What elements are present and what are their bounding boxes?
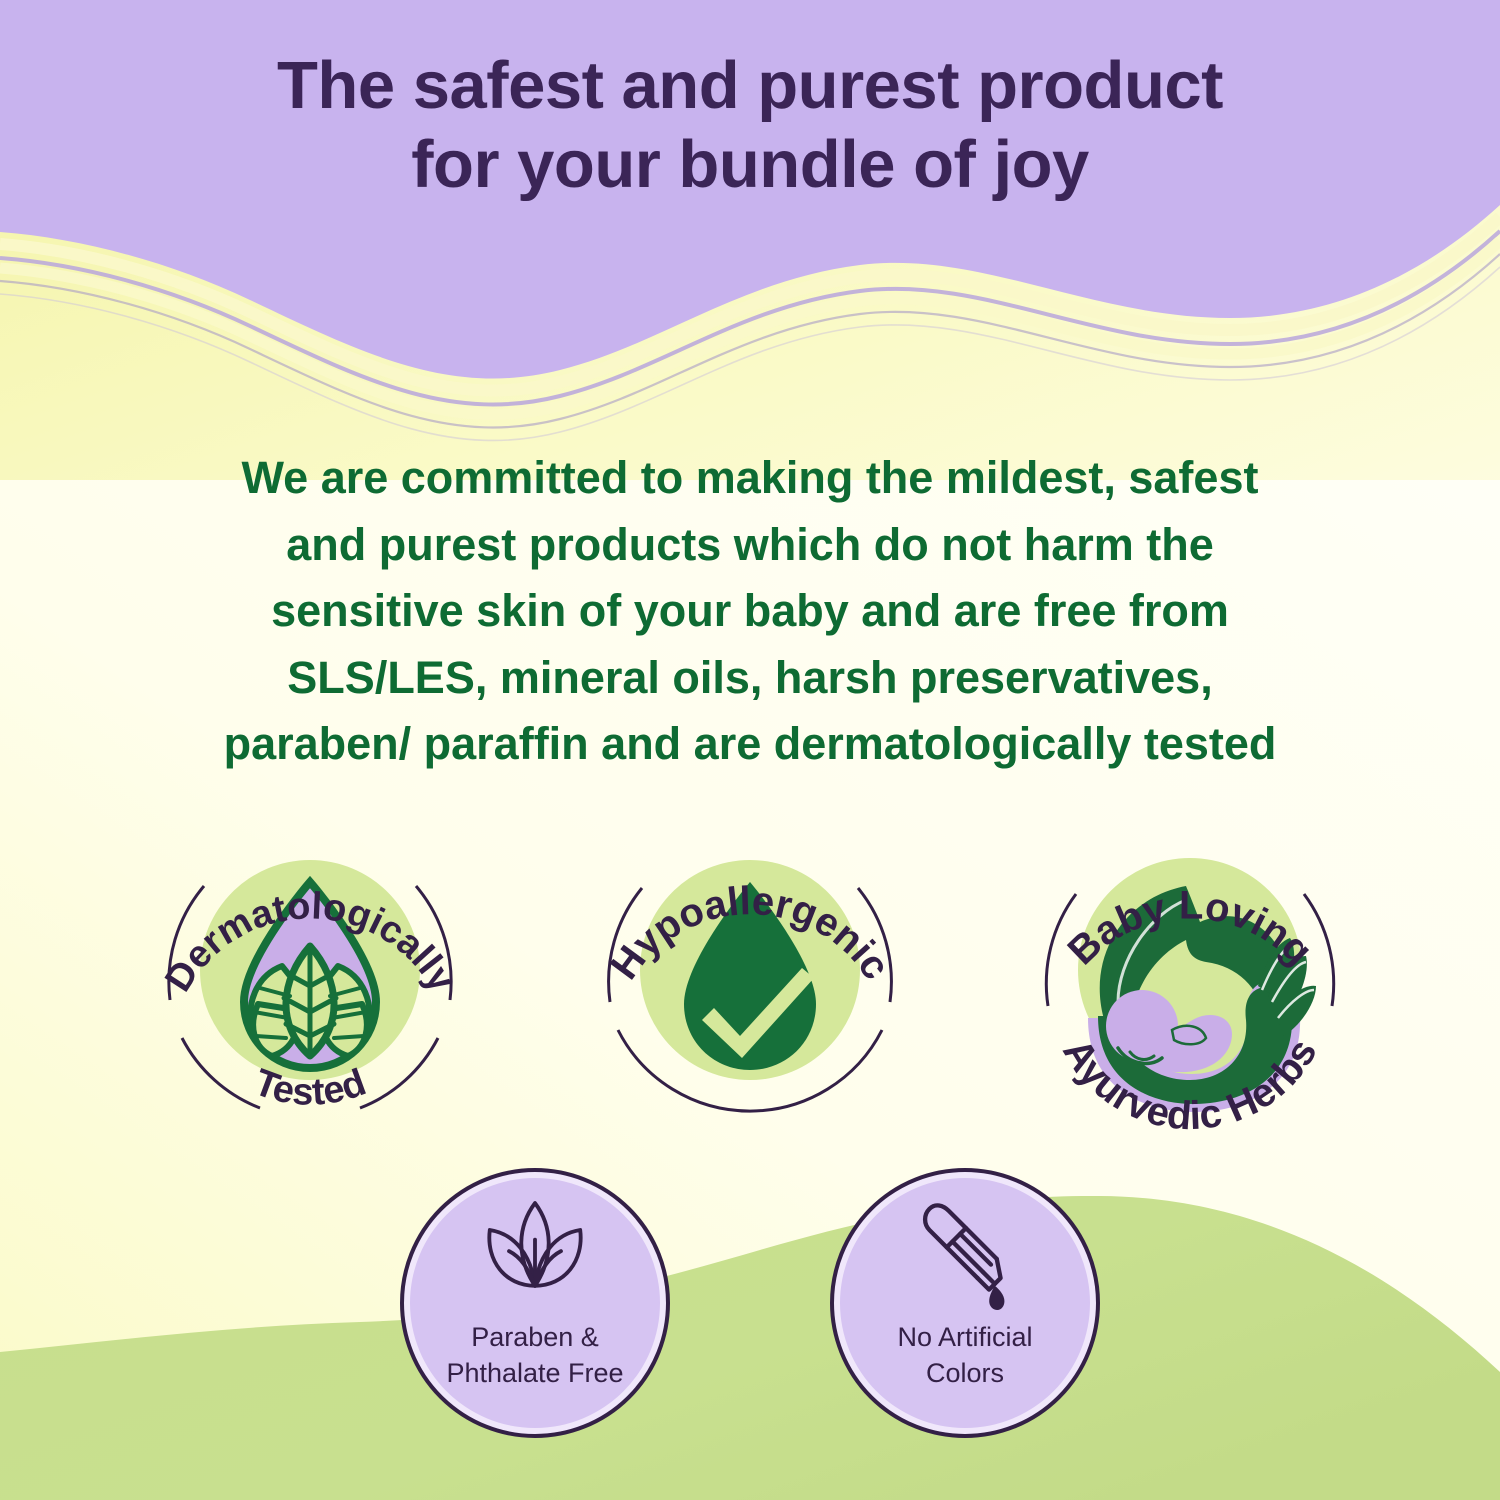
certification-badge-row: Dermatologically Tested Hypoallergenic: [0, 790, 1500, 1160]
pill-paraben-phthalate-free: Paraben & Phthalate Free: [400, 1168, 670, 1438]
page-title: The safest and purest product for your b…: [160, 46, 1340, 204]
badge-baby-loving-ayurvedic-herbs: Baby Loving Ayurvedic Herbs: [1010, 790, 1370, 1150]
header-banner: The safest and purest product for your b…: [0, 0, 1500, 250]
lotus-leaves-icon: [473, 1196, 598, 1314]
pill-no-artificial-colors: No Artificial Colors: [830, 1168, 1100, 1438]
badge-hypoallergenic: Hypoallergenic: [570, 790, 930, 1150]
pill-label: Paraben & Phthalate Free: [400, 1320, 670, 1391]
dropper-pipette-icon: [903, 1196, 1028, 1314]
pill-label: No Artificial Colors: [830, 1320, 1100, 1391]
intro-section: We are committed to making the mildest, …: [0, 445, 1500, 778]
claims-pill-row: Paraben & Phthalate Free No Artificial C…: [0, 1168, 1500, 1458]
badge-dermatologically-tested: Dermatologically Tested: [130, 790, 490, 1150]
intro-paragraph: We are committed to making the mildest, …: [120, 445, 1380, 778]
